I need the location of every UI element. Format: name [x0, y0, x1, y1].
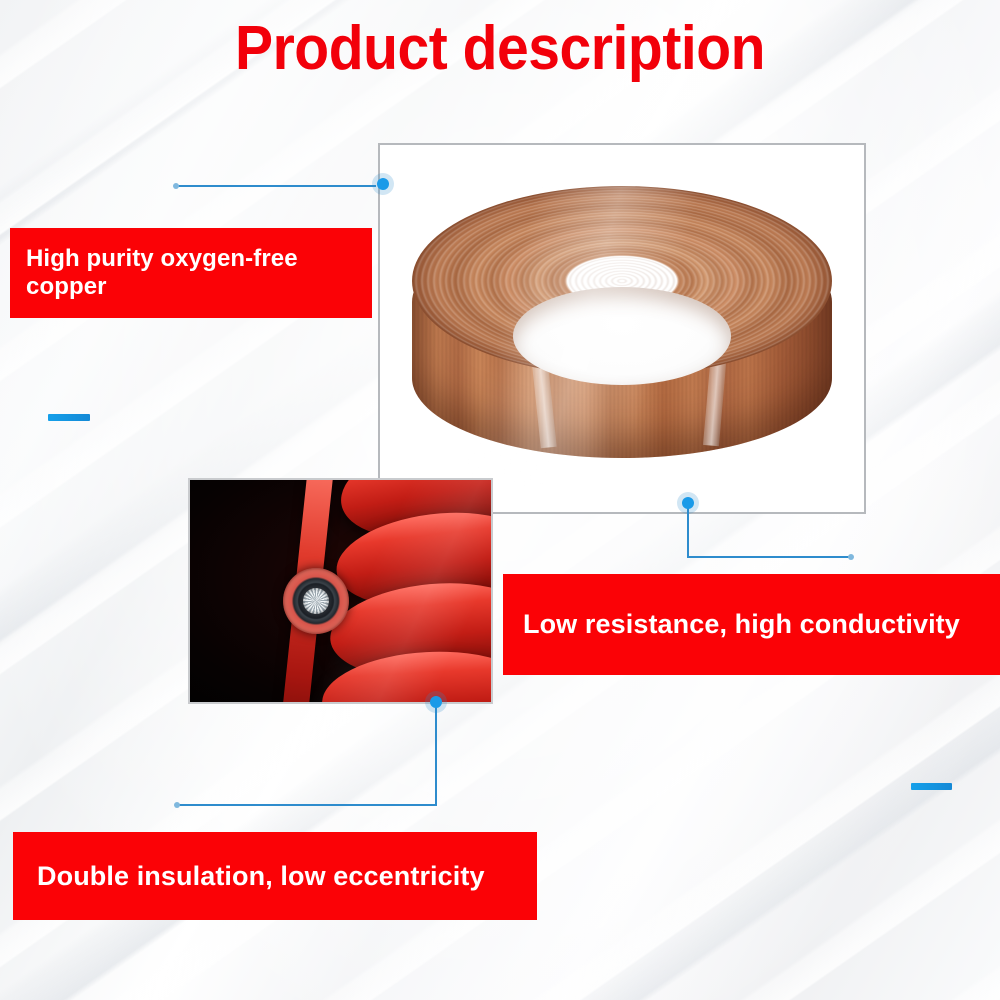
product-description-banner: Product description [0, 0, 1000, 1000]
red-cable-image [190, 480, 491, 702]
copper-coil-artwork [412, 186, 832, 486]
blue-dash-left-decoration [48, 414, 90, 421]
coil-center-hole [513, 287, 731, 385]
copper-coil-photo [378, 143, 866, 514]
red-cable-photo [188, 478, 493, 704]
copper-coil-image [380, 145, 864, 512]
page-title: Product description [40, 16, 960, 83]
callout-label-high-purity: High purity oxygen-free copper [10, 228, 372, 318]
cable-cross-section [283, 568, 349, 634]
blue-dash-right-decoration [911, 783, 952, 790]
callout-label-double-insulation: Double insulation, low eccentricity [13, 832, 537, 920]
copper-strand-core [303, 588, 329, 614]
callout-label-low-resistance: Low resistance, high conductivity [503, 574, 1000, 675]
